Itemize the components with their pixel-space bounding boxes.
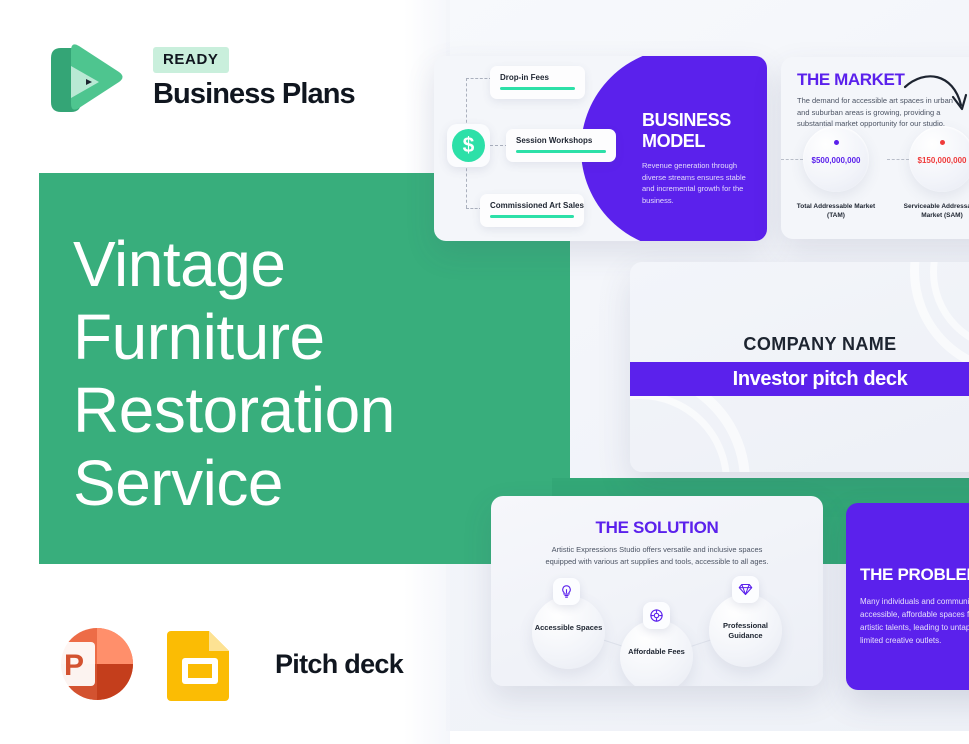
dollar-icon: $ — [452, 129, 485, 162]
brand-name: Business Plans — [153, 78, 355, 111]
market-dash-mid — [887, 159, 909, 160]
curved-arrow-icon — [903, 71, 969, 119]
solution-item-label: Affordable Fees — [620, 647, 693, 657]
ready-badge: READY — [153, 47, 229, 73]
market-metric-circle: $500,000,000 — [803, 126, 869, 192]
dollar-icon-box: $ — [447, 124, 490, 167]
metric-value: $150,000,000 — [909, 156, 969, 165]
connector-line-down — [466, 163, 467, 208]
market-dash-left — [781, 159, 803, 160]
solution-item[interactable]: Affordable Fees — [620, 620, 693, 686]
powerpoint-icon: P — [45, 622, 137, 706]
target-icon — [643, 602, 670, 629]
slide-cover[interactable]: COMPANY NAME Investor pitch deck — [630, 262, 969, 472]
diamond-icon — [732, 576, 759, 603]
item-label: Commissioned Art Sales — [490, 201, 574, 210]
metric-dot — [834, 140, 839, 145]
slide-subtitle-solution: Artistic Expressions Studio offers versa… — [541, 544, 773, 567]
slide-the-solution[interactable]: THE SOLUTION Artistic Expressions Studio… — [491, 496, 823, 686]
slide-the-market[interactable]: THE MARKET The demand for accessible art… — [781, 57, 969, 239]
metric-caption: Total Addressable Market (TAM) — [794, 202, 878, 220]
connector-line-top — [466, 78, 492, 79]
play-triangle-logo-icon — [45, 36, 123, 120]
item-label: Drop-in Fees — [500, 73, 575, 82]
item-underline — [500, 87, 575, 90]
hero-title: Vintage Furniture Restoration Service — [73, 228, 513, 520]
svg-text:P: P — [64, 649, 84, 682]
solution-item-label: Professional Guidance — [709, 621, 782, 641]
cover-headline-band: Investor pitch deck — [630, 362, 969, 396]
cover-headline: Investor pitch deck — [630, 362, 969, 396]
slide-title-business-model: BUSINESS MODEL — [642, 110, 762, 152]
business-model-item[interactable]: Session Workshops — [506, 129, 616, 162]
metric-value: $500,000,000 — [803, 156, 869, 165]
slide-title-market: THE MARKET — [797, 70, 904, 90]
slide-subtitle-business-model: Revenue generation through diverse strea… — [642, 160, 760, 206]
cover-company-name: COMPANY NAME — [630, 334, 969, 355]
solution-item-label: Accessible Spaces — [532, 623, 605, 633]
connector-line-up — [466, 78, 467, 128]
poster-root: READY Business Plans Vintage Furniture R… — [0, 0, 969, 744]
decorative-ring — [910, 262, 969, 376]
item-underline — [516, 150, 606, 153]
solution-item[interactable]: Professional Guidance — [709, 594, 782, 667]
market-metric-circle: $150,000,000 — [909, 126, 969, 192]
solution-item[interactable]: Accessible Spaces — [532, 596, 605, 669]
brand-logo[interactable]: READY Business Plans — [45, 33, 385, 123]
slide-subtitle-problem: Many individuals and communities lack ac… — [860, 595, 969, 647]
slide-title-problem: THE PROBLEM — [860, 565, 969, 585]
filetype-label: Pitch deck — [275, 649, 403, 680]
metric-dot — [940, 140, 945, 145]
metric-caption: Serviceable Addressable Market (SAM) — [900, 202, 969, 220]
google-slides-icon — [165, 627, 235, 701]
business-model-item[interactable]: Drop-in Fees — [490, 66, 585, 99]
business-model-item[interactable]: Commissioned Art Sales — [480, 194, 584, 227]
item-underline — [490, 215, 574, 218]
lightbulb-icon — [553, 578, 580, 605]
slide-title-solution: THE SOLUTION — [491, 518, 823, 538]
slide-the-problem[interactable]: THE PROBLEM Many individuals and communi… — [846, 503, 969, 690]
item-label: Session Workshops — [516, 136, 606, 145]
